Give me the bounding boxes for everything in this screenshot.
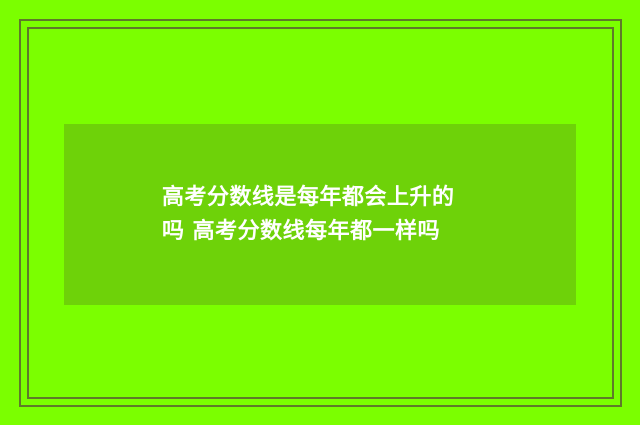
headline-panel: 高考分数线是每年都会上升的 吗 高考分数线每年都一样吗 [64, 124, 576, 305]
poster-canvas: 高考分数线是每年都会上升的 吗 高考分数线每年都一样吗 [0, 0, 640, 425]
headline-line-1: 高考分数线是每年都会上升的 [162, 181, 455, 215]
headline-line-2: 吗 高考分数线每年都一样吗 [162, 215, 440, 249]
